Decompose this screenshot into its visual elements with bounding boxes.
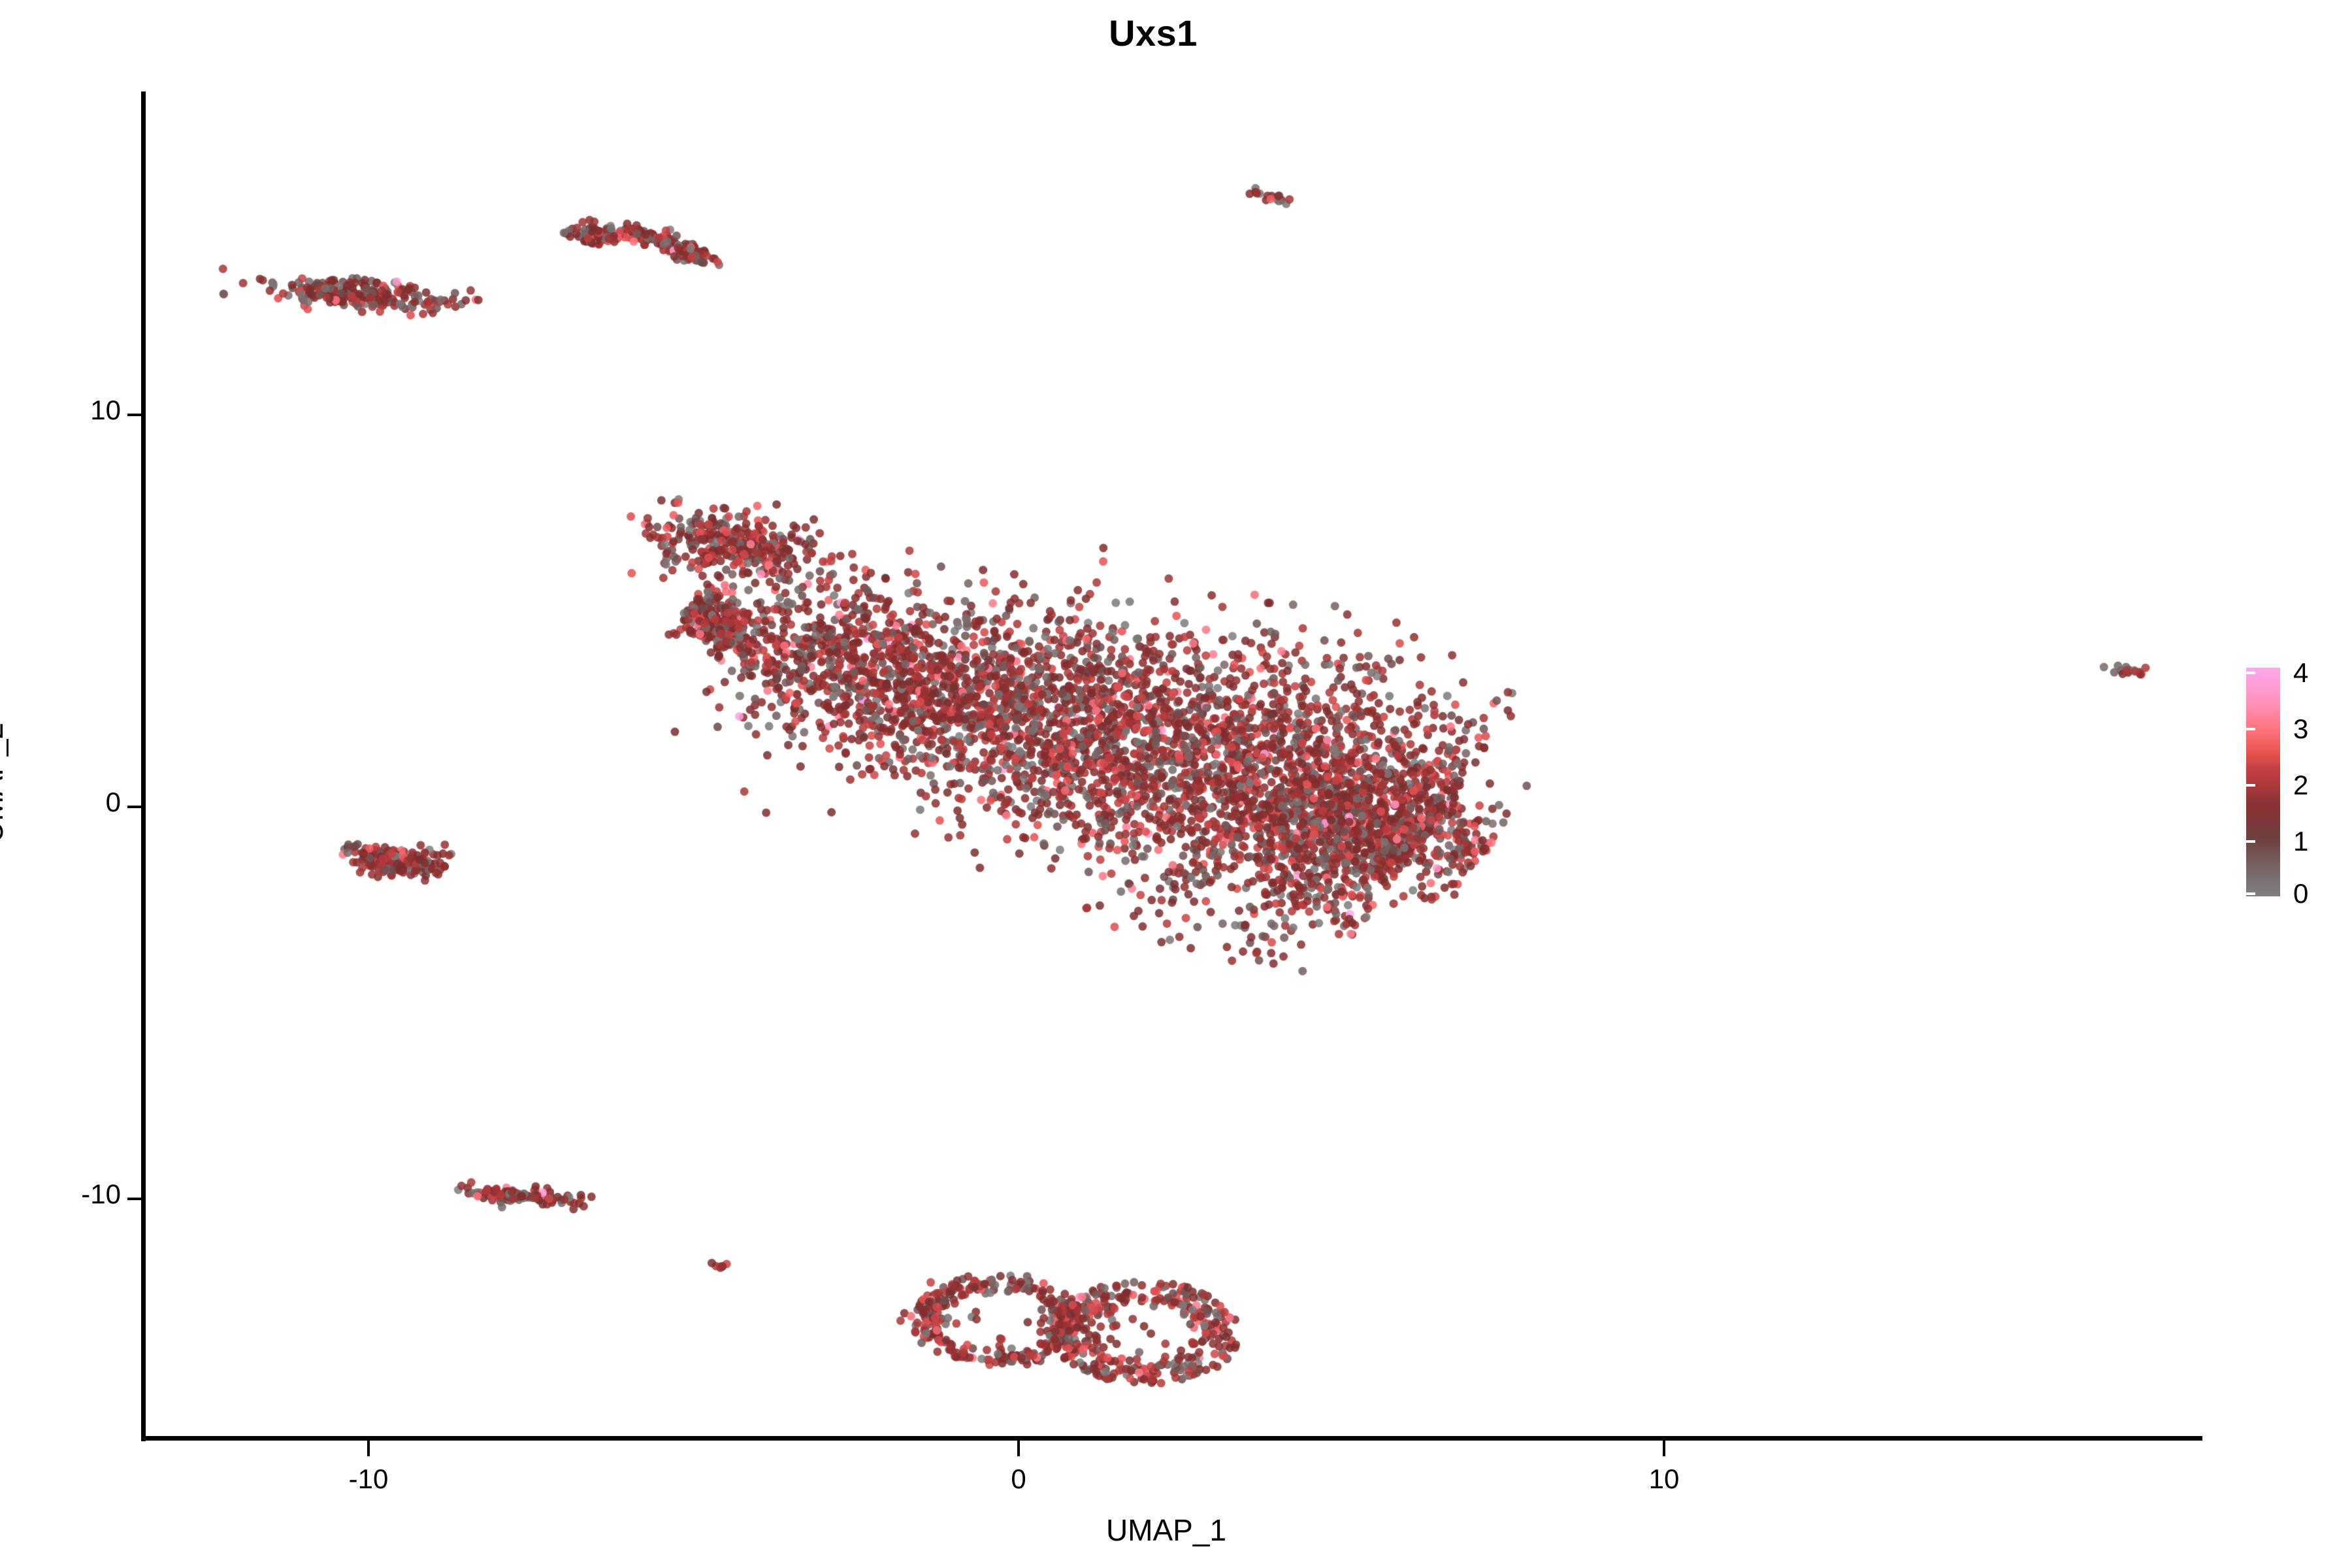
legend-label-3: 3 — [2293, 713, 2308, 745]
plot-panel — [144, 91, 2202, 1439]
x-tick-0 — [1017, 1441, 1020, 1456]
legend-tick-3-left — [2246, 728, 2255, 730]
y-tick-label-0: 0 — [106, 787, 121, 818]
legend-tick-4-left — [2246, 672, 2255, 674]
y-tick-label-neg10: -10 — [81, 1179, 121, 1210]
x-axis-title: UMAP_1 — [0, 1512, 2342, 1548]
x-tick-label-neg10: -10 — [349, 1463, 389, 1495]
umap-feature-plot: Uxs1 10 0 -10 -10 0 10 UMAP_1 UMAP_2 4 3… — [0, 0, 2352, 1568]
y-tick-neg10 — [127, 1198, 143, 1200]
y-tick-label-10: 10 — [90, 395, 121, 426]
legend-tick-2-right — [2328, 784, 2338, 787]
y-axis-title: UMAP_2 — [0, 723, 10, 843]
y-tick-10 — [127, 414, 143, 416]
scatter-canvas — [144, 91, 2202, 1439]
x-tick-label-0: 0 — [1011, 1463, 1026, 1495]
y-axis-line — [141, 91, 146, 1441]
legend-tick-1-right — [2328, 840, 2338, 843]
legend: 4 3 2 1 0 — [2246, 668, 2338, 903]
legend-colorbar — [2246, 668, 2280, 896]
legend-tick-0-left — [2246, 892, 2255, 895]
x-axis-line — [141, 1436, 2202, 1441]
y-tick-0 — [127, 806, 143, 808]
legend-tick-4-right — [2328, 672, 2338, 674]
legend-label-2: 2 — [2293, 770, 2308, 801]
legend-tick-3-right — [2328, 728, 2338, 730]
legend-label-1: 1 — [2293, 826, 2308, 857]
legend-label-4: 4 — [2293, 657, 2308, 689]
x-tick-label-10: 10 — [1649, 1463, 1680, 1495]
legend-label-0: 0 — [2293, 878, 2308, 909]
page-title: Uxs1 — [0, 12, 2329, 54]
legend-tick-2-left — [2246, 784, 2255, 787]
x-tick-10 — [1663, 1441, 1665, 1456]
legend-tick-0-right — [2328, 892, 2338, 895]
x-tick-neg10 — [367, 1441, 370, 1456]
legend-tick-1-left — [2246, 840, 2255, 843]
